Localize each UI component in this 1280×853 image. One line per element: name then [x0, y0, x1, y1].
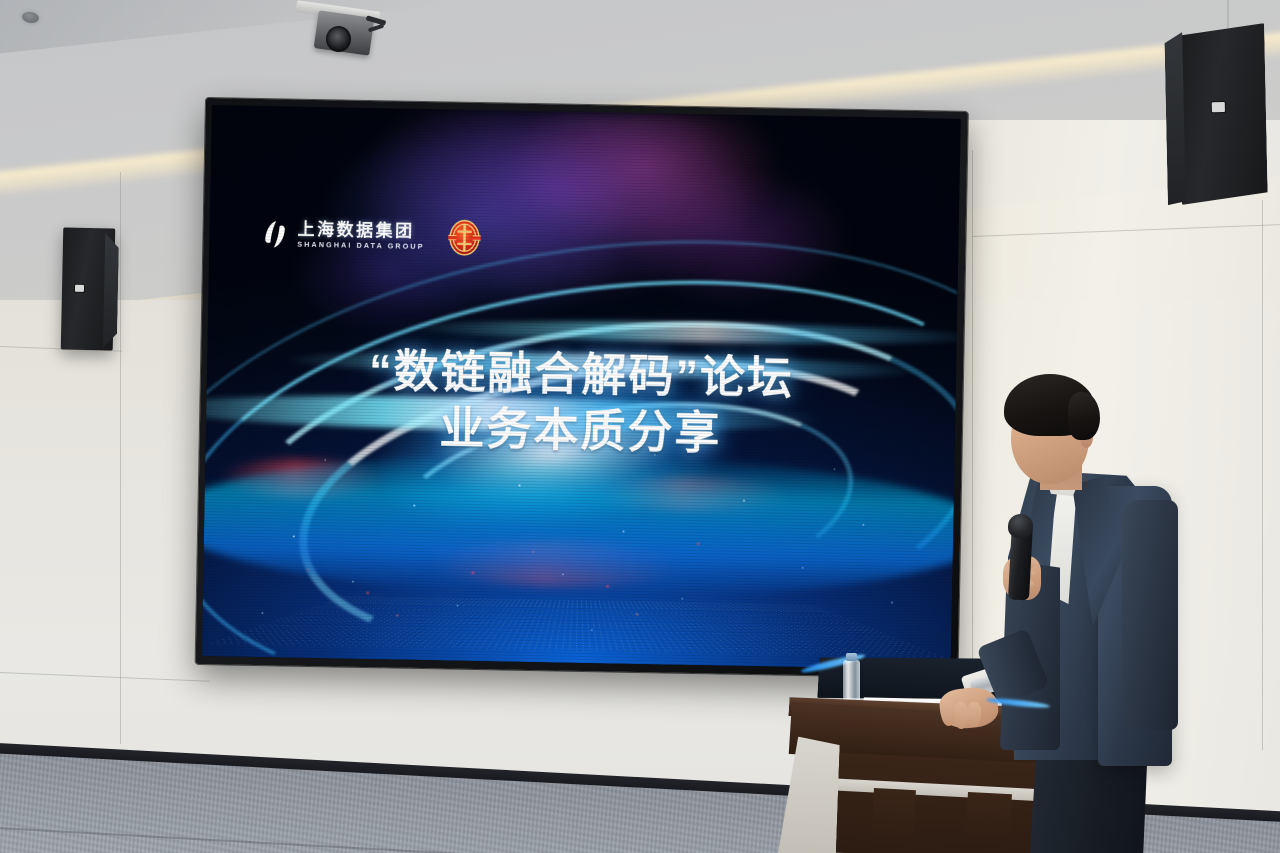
screen-panel: 上海数据集团 SHANGHAI DATA GROUP [202, 105, 961, 670]
slide-logo-row: 上海数据集团 SHANGHAI DATA GROUP [261, 214, 483, 258]
water-bottle-cap [846, 653, 857, 661]
sdg-wordmark: 上海数据集团 SHANGHAI DATA GROUP [297, 221, 425, 251]
sdg-swirl-icon [261, 219, 289, 249]
shanghai-data-group-logo: 上海数据集团 SHANGHAI DATA GROUP [261, 219, 425, 252]
speaker-right-hanger [1227, 0, 1229, 28]
microphone-head-icon [1008, 514, 1033, 538]
speaker-left-side [103, 228, 120, 350]
speaker-right-side [1164, 25, 1186, 205]
wall-speaker-right [1178, 23, 1268, 205]
wall-speaker-left [61, 227, 116, 350]
presentation-scene: 上海数据集团 SHANGHAI DATA GROUP [0, 0, 1280, 853]
water-bottle [843, 660, 860, 706]
slide-title: “数链融合解码”论坛 业务本质分享 [206, 341, 957, 466]
podium-leg-right [965, 792, 1012, 853]
wall-seam-v4 [1262, 200, 1263, 750]
sdg-name-cn: 上海数据集团 [297, 221, 425, 240]
jbl-logo-left-icon [75, 285, 84, 292]
wall-seam-v1 [120, 172, 121, 744]
sdg-name-en: SHANGHAI DATA GROUP [297, 241, 424, 251]
podium-leg-left [871, 788, 916, 853]
presenter-right-sleeve [1122, 500, 1178, 730]
speaker-right-front [1178, 23, 1268, 205]
led-video-wall[interactable]: 上海数据集团 SHANGHAI DATA GROUP [196, 98, 968, 678]
projector-lens-icon [326, 26, 351, 52]
union-emblem-logo [446, 217, 483, 258]
jbl-logo-right-icon [1212, 102, 1225, 112]
presenter-hair-side [1068, 392, 1100, 440]
